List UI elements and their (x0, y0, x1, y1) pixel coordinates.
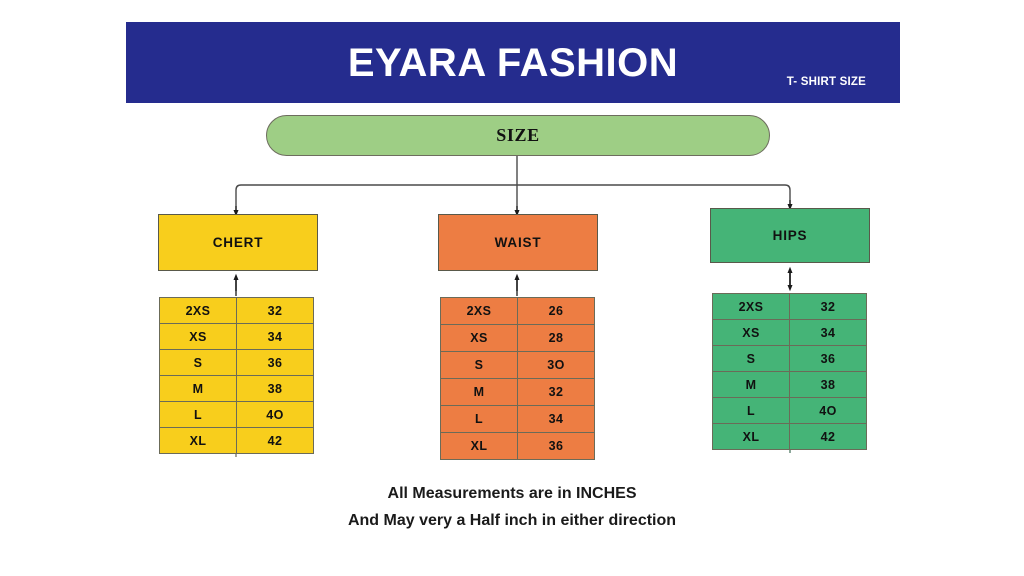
size-cell: S (160, 350, 237, 376)
connector-bus (236, 185, 790, 206)
value-cell: 26 (518, 298, 595, 325)
value-cell: 36 (518, 433, 595, 460)
table-row: XL 42 (160, 428, 314, 454)
value-cell: 34 (237, 324, 314, 350)
size-cell: S (713, 346, 790, 372)
table-row: M 38 (713, 372, 867, 398)
category-box-chert[interactable]: CHERT (158, 214, 318, 271)
value-cell: 3O (518, 352, 595, 379)
table-row: 2XS 32 (713, 294, 867, 320)
category-box-hips[interactable]: HIPS (710, 208, 870, 263)
table-row: XS 34 (713, 320, 867, 346)
footer-line-1: All Measurements are in INCHES (0, 480, 1024, 507)
brand-title: EYARA FASHION (126, 40, 900, 86)
size-table-waist-body: 2XS 26 XS 28 S 3O M 32 L 34 XL 36 (441, 298, 595, 460)
category-box-waist[interactable]: WAIST (438, 214, 598, 271)
value-cell: 42 (790, 424, 867, 450)
table-row: M 38 (160, 376, 314, 402)
table-row: L 34 (441, 406, 595, 433)
size-cell: L (160, 402, 237, 428)
header-banner: EYARA FASHION T- SHIRT SIZE (126, 22, 900, 103)
category-label-chert: CHERT (213, 235, 264, 250)
size-cell: 2XS (160, 298, 237, 324)
footer-line-2: And May very a Half inch in either direc… (0, 507, 1024, 534)
size-table-chert: 2XS 32 XS 34 S 36 M 38 L 4O XL 42 (159, 297, 314, 454)
size-cell: 2XS (713, 294, 790, 320)
table-row: L 4O (713, 398, 867, 424)
size-cell: L (713, 398, 790, 424)
table-row: XS 34 (160, 324, 314, 350)
banner-subtitle: T- SHIRT SIZE (787, 76, 866, 88)
size-cell: XS (160, 324, 237, 350)
table-row: S 36 (713, 346, 867, 372)
size-cell: M (441, 379, 518, 406)
size-table-hips: 2XS 32 XS 34 S 36 M 38 L 4O XL 42 (712, 293, 867, 450)
table-row: L 4O (160, 402, 314, 428)
size-table-waist: 2XS 26 XS 28 S 3O M 32 L 34 XL 36 (440, 297, 595, 460)
size-cell: XL (441, 433, 518, 460)
value-cell: 4O (237, 402, 314, 428)
table-row: XS 28 (441, 325, 595, 352)
root-node-size: SIZE (266, 115, 770, 156)
value-cell: 32 (790, 294, 867, 320)
size-table-chert-body: 2XS 32 XS 34 S 36 M 38 L 4O XL 42 (160, 298, 314, 454)
value-cell: 32 (237, 298, 314, 324)
size-table-hips-body: 2XS 32 XS 34 S 36 M 38 L 4O XL 42 (713, 294, 867, 450)
value-cell: 38 (790, 372, 867, 398)
value-cell: 34 (518, 406, 595, 433)
size-cell: M (713, 372, 790, 398)
size-cell: XS (441, 325, 518, 352)
table-row: 2XS 32 (160, 298, 314, 324)
size-cell: L (441, 406, 518, 433)
size-cell: M (160, 376, 237, 402)
root-node-label: SIZE (267, 116, 769, 155)
footer-note: All Measurements are in INCHES And May v… (0, 480, 1024, 534)
value-cell: 38 (237, 376, 314, 402)
category-label-waist: WAIST (495, 235, 542, 250)
size-cell: 2XS (441, 298, 518, 325)
size-cell: S (441, 352, 518, 379)
table-row: S 3O (441, 352, 595, 379)
size-chart-canvas: EYARA FASHION T- SHIRT SIZE SIZE (0, 0, 1024, 576)
value-cell: 36 (790, 346, 867, 372)
size-cell: XL (160, 428, 237, 454)
table-row: XL 42 (713, 424, 867, 450)
table-row: S 36 (160, 350, 314, 376)
value-cell: 42 (237, 428, 314, 454)
value-cell: 32 (518, 379, 595, 406)
table-row: M 32 (441, 379, 595, 406)
category-label-hips: HIPS (773, 228, 808, 243)
value-cell: 36 (237, 350, 314, 376)
table-row: 2XS 26 (441, 298, 595, 325)
value-cell: 4O (790, 398, 867, 424)
size-cell: XS (713, 320, 790, 346)
table-row: XL 36 (441, 433, 595, 460)
value-cell: 34 (790, 320, 867, 346)
size-cell: XL (713, 424, 790, 450)
value-cell: 28 (518, 325, 595, 352)
